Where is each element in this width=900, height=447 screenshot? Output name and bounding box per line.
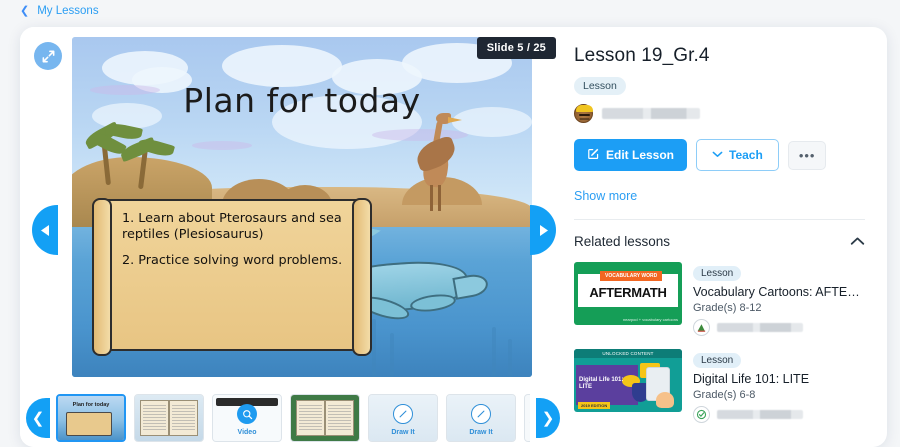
edit-lesson-label: Edit Lesson [606,148,674,162]
lesson-details-panel: Lesson 19_Gr.4 Lesson Edit Lesson [566,27,887,447]
hand-icon [656,392,674,408]
pencil-icon [471,404,491,424]
related-lesson-item[interactable]: UNLOCKED CONTENT Digital Life 101: LITE … [574,349,865,423]
seaweed-shape [508,339,512,377]
thumbnail-label: Well done! Ready for more! [525,422,530,436]
related-lessons-header[interactable]: Related lessons [574,234,865,249]
related-lesson-info: Lesson Digital Life 101: LITE Grade(s) 6… [693,349,865,423]
expand-arrows-icon[interactable] [34,42,62,70]
seaweed-shape [372,319,376,377]
filmstrip-thumbs: Plan for today [56,394,530,442]
lesson-detail-card: Slide 5 / 25 [20,27,887,447]
haze-shape [372,129,468,141]
seaweed-shape [390,333,394,377]
slide-bullet-2: 2. Practice solving word problems. [122,253,346,269]
thumb-footer: nearpod + vocabulary cartoons [574,317,678,322]
thumbnail-label: Draw It [447,429,515,436]
slide-title: Plan for today [72,81,532,120]
thumbnail-title: Plan for today [58,402,124,408]
thumb-word: Digital Life 101: LITE [579,377,633,391]
edit-lesson-button[interactable]: Edit Lesson [574,139,687,171]
related-lesson-name: Digital Life 101: LITE [693,372,865,386]
thumb-lines [172,405,195,431]
bird-leg-shape [438,185,441,211]
thumb-lines [299,405,322,431]
slide-filmstrip: ❮ Plan for today [20,389,566,447]
triangle-right-icon [538,224,549,237]
thumb-book-left [296,400,325,436]
thumb-lines [143,405,166,431]
thumb-book-right [169,400,198,436]
action-buttons: Edit Lesson Teach ••• [574,139,865,171]
slide-stage[interactable]: Plan for today 1. Learn about Pterosaurs… [72,37,532,377]
slide-counter: Slide 5 / 25 [477,37,556,59]
thumbnail-slide-2[interactable] [134,394,204,442]
breadcrumb-my-lessons-link[interactable]: My Lessons [37,5,98,17]
related-lesson-badge: Lesson [693,266,741,281]
related-lesson-grade: Grade(s) 6-8 [693,389,865,401]
slide-player: Slide 5 / 25 [20,27,566,447]
slide-bullet-1: 1. Learn about Pterosaurs and sea reptil… [122,211,346,244]
filmstrip-next-button[interactable]: ❯ [536,398,560,438]
related-lesson-thumbnail[interactable]: UNLOCKED CONTENT Digital Life 101: LITE … [574,349,682,412]
pencil-icon [393,404,413,424]
related-lesson-badge: Lesson [693,353,741,368]
thumbnail-slide-7-end[interactable]: Well done! Ready for more! [524,394,530,442]
seaweed-shape [492,327,496,377]
edit-square-icon [587,147,600,163]
haze-shape [192,141,252,150]
thumb-book-left [140,400,169,436]
related-lesson-author [693,319,865,336]
thumb-word: AFTERMATH [574,285,682,300]
thumbnail-slide-3-video[interactable]: Video [212,394,282,442]
section-divider [574,219,865,220]
author-row [574,104,865,123]
scroll-roll-right [352,198,372,356]
thumbnail-slide-5-draw[interactable]: Draw It [368,394,438,442]
thumbnail-slide-4[interactable] [290,394,360,442]
slide-body-text: 1. Learn about Pterosaurs and sea reptil… [122,211,346,269]
common-sense-icon [693,406,710,423]
video-play-icon [237,404,257,424]
teach-button[interactable]: Teach [696,139,779,171]
thumbnail-slide-6-draw[interactable]: Draw It [446,394,516,442]
thumbnail-label: Draw It [369,429,437,436]
related-lessons-title: Related lessons [574,234,670,249]
chevron-up-icon[interactable] [850,234,865,249]
teach-label: Teach [729,148,763,162]
chevron-down-icon [712,148,723,162]
related-author-name-redacted [717,323,803,332]
related-lesson-item[interactable]: VOCABULARY WORD AFTERMATH nearpod + voca… [574,262,865,336]
slide-scroll-panel: 1. Learn about Pterosaurs and sea reptil… [102,199,362,351]
more-options-button[interactable]: ••• [788,141,827,170]
thumb-scroll-shape [66,412,112,436]
bear-avatar-icon [574,104,593,123]
thumbnail-label: Video [213,429,281,436]
vocabulary-cartoons-icon [693,319,710,336]
next-slide-button[interactable] [530,205,556,255]
triangle-left-icon [40,224,51,237]
status-badge: Lesson [574,77,626,95]
thumbnail-slide-1[interactable]: Plan for today [56,394,126,442]
author-name-redacted [602,108,700,119]
chevron-left-icon[interactable]: ❮ [20,6,29,17]
thumb-edition: 2019 EDITION [578,402,610,409]
page-title: Lesson 19_Gr.4 [574,45,865,67]
related-lesson-name: Vocabulary Cartoons: AFTERMA.. [693,285,865,299]
show-more-link[interactable]: Show more [574,189,865,203]
thumb-book-right [325,400,354,436]
related-author-name-redacted [717,410,803,419]
filmstrip-prev-button[interactable]: ❮ [26,398,50,438]
previous-slide-button[interactable] [32,205,58,255]
thumb-vocabulary-tag: VOCABULARY WORD [600,271,662,281]
thumb-unlocked-banner: UNLOCKED CONTENT [574,349,682,358]
breadcrumb[interactable]: ❮ My Lessons [0,0,900,22]
bird-leg-shape [430,185,433,211]
related-lesson-author [693,406,865,423]
related-lesson-info: Lesson Vocabulary Cartoons: AFTERMA.. Gr… [693,262,865,336]
scroll-roll-left [92,198,112,356]
related-lesson-thumbnail[interactable]: VOCABULARY WORD AFTERMATH nearpod + voca… [574,262,682,325]
related-lesson-grade: Grade(s) 8-12 [693,302,865,314]
thumb-lines [328,405,351,431]
